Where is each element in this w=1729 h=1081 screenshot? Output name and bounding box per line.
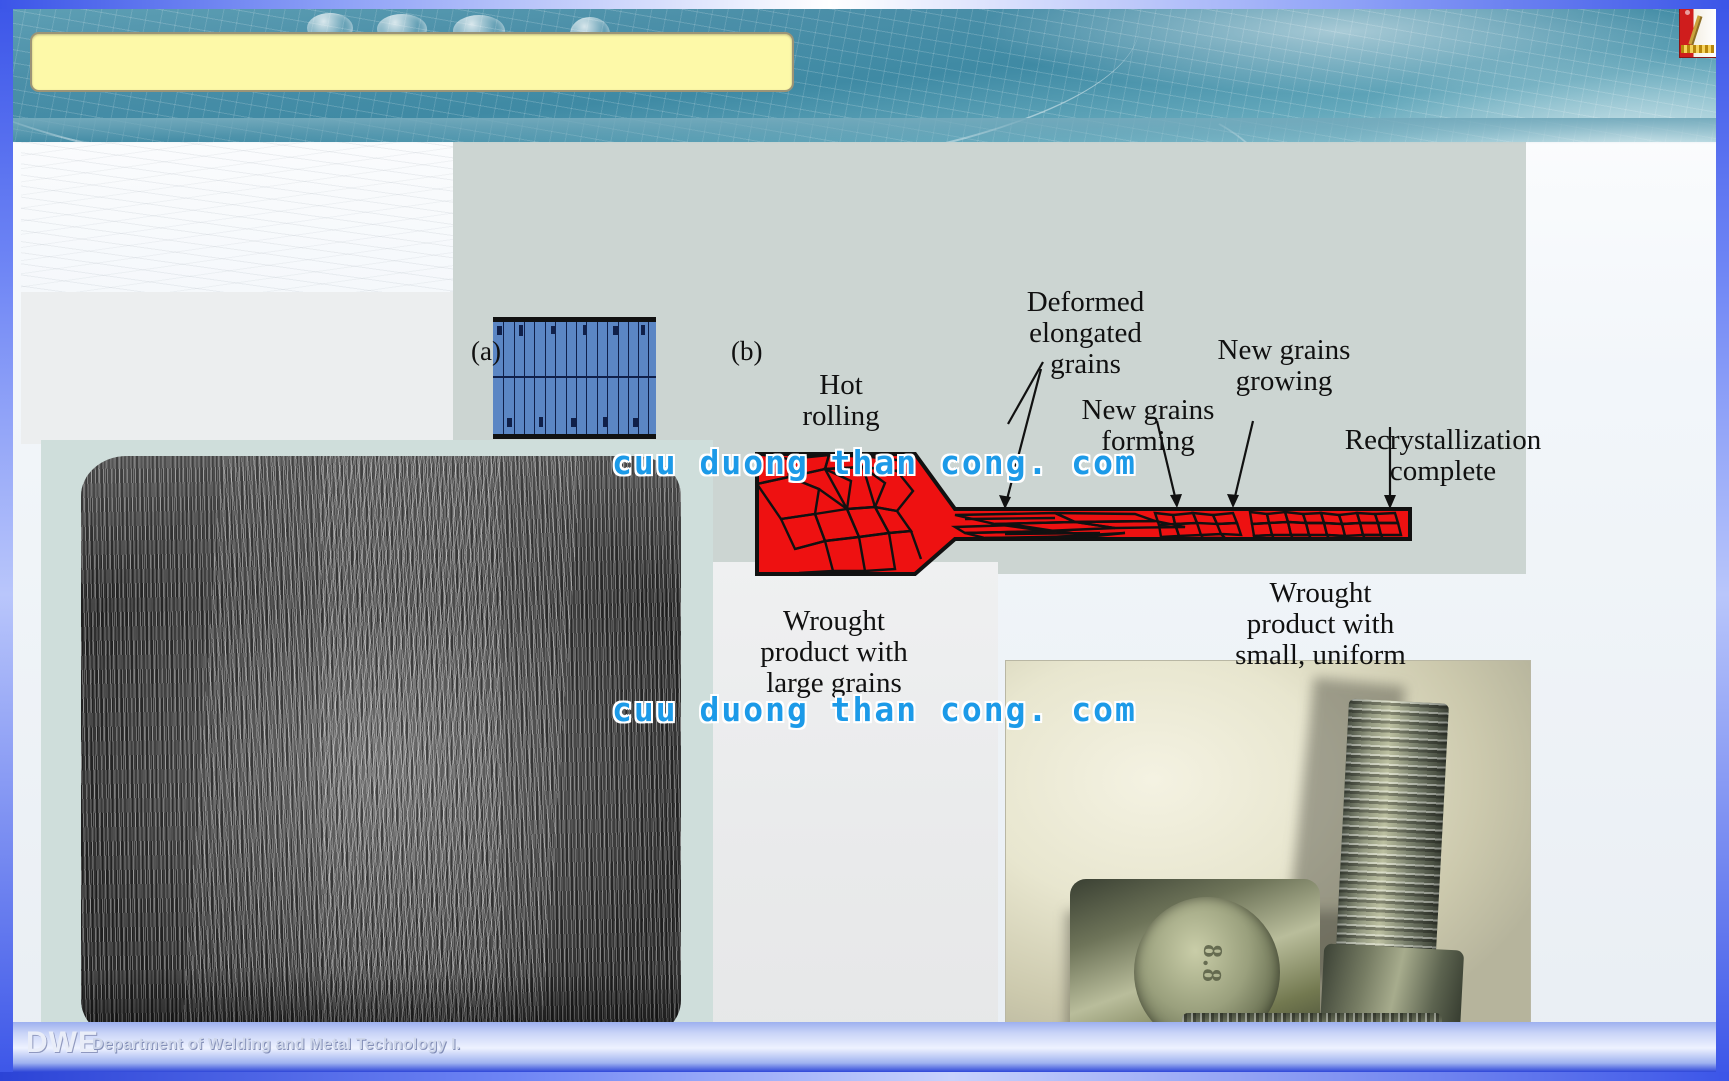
bolt-upright-shank xyxy=(1335,699,1449,974)
decorative-panel-upper-left-plain xyxy=(21,292,501,444)
label-recrystallization-complete: Recrystallization complete xyxy=(1323,425,1563,487)
slide-border-bottom xyxy=(0,1072,1729,1081)
bolt-grade-marking: 8.8 xyxy=(1182,943,1229,1022)
slide-footer: DWE Department of Welding and Metal Tech… xyxy=(10,1022,1719,1072)
micrograph-highlight xyxy=(81,456,681,606)
watermark-top: cuu duong than cong. com xyxy=(612,443,1137,482)
slide-border-left xyxy=(0,0,13,1081)
micrograph-photo xyxy=(81,456,681,1040)
micrograph-photo-panel xyxy=(41,440,713,1056)
figure-label-a: (a) xyxy=(471,337,501,366)
slide-title-text xyxy=(32,34,792,46)
label-wrought-large-grains: Wrought product with large grains xyxy=(744,606,924,699)
cast-grain-structure-diagram xyxy=(493,317,656,439)
slide-content-area: (a) (b) Hot rolling Deformed elongated g… xyxy=(13,142,1716,1008)
footer-department: Department of Welding and Metal Technolo… xyxy=(92,1036,460,1054)
logo-caption-stripe xyxy=(1681,45,1714,53)
logo-emblem-dot xyxy=(1685,10,1690,15)
slide-border-top xyxy=(0,0,1729,9)
slide-border-right xyxy=(1716,0,1729,1081)
grain-mid-boundary xyxy=(493,376,656,378)
footer-abbrev: DWE xyxy=(26,1026,99,1060)
label-hot-rolling: Hot rolling xyxy=(781,370,901,432)
label-deformed-elongated-grains: Deformed elongated grains xyxy=(998,287,1173,380)
logo-tool-mark xyxy=(1688,15,1700,44)
presentation-slide: (a) (b) Hot rolling Deformed elongated g… xyxy=(0,0,1729,1081)
header-fade xyxy=(10,118,1719,144)
label-new-grains-growing: New grains growing xyxy=(1198,335,1370,397)
university-logo-icon xyxy=(1679,4,1717,58)
slide-title-box[interactable] xyxy=(30,32,794,92)
watermark-bottom: cuu duong than cong. com xyxy=(612,690,1137,729)
label-wrought-small-uniform: Wrought product with small, uniform xyxy=(1228,578,1413,671)
figure-label-b: (b) xyxy=(731,337,762,366)
